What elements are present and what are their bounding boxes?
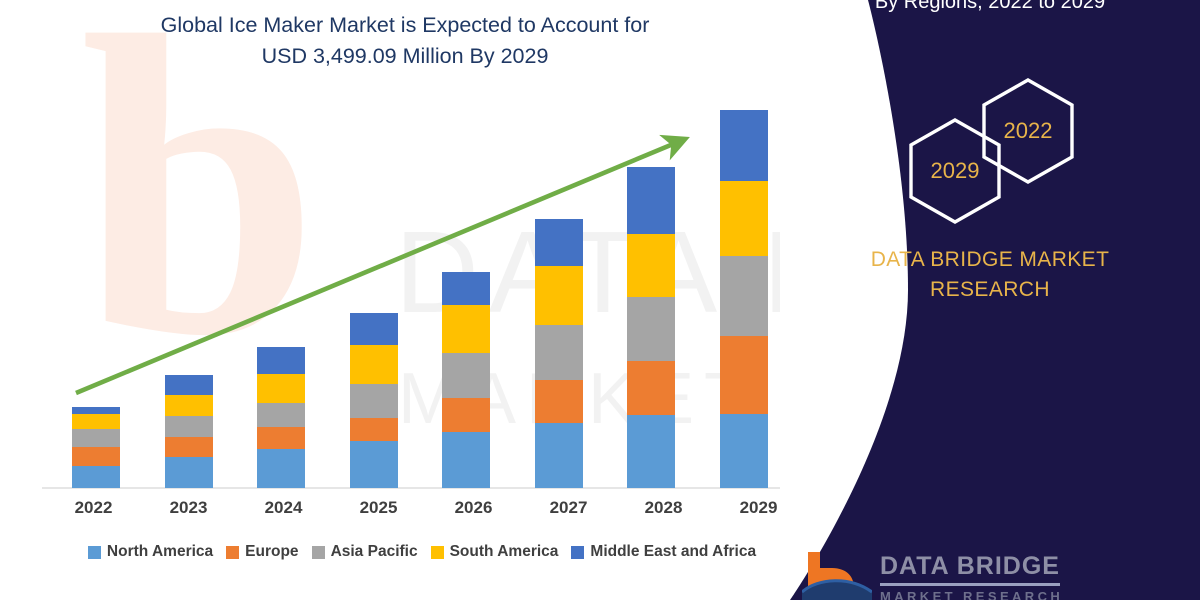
bar-segment-south-america-2027	[535, 266, 583, 325]
bar-segment-middle-east-and-africa-2024	[257, 347, 305, 374]
bar-segment-asia-pacific-2023	[165, 416, 213, 436]
bar-2026	[442, 272, 490, 488]
legend-swatch-icon	[226, 546, 239, 559]
plot-area	[50, 110, 790, 488]
bar-segment-south-america-2025	[350, 345, 398, 384]
legend-label: South America	[450, 543, 559, 561]
bar-segment-asia-pacific-2026	[442, 353, 490, 398]
bar-segment-europe-2027	[535, 380, 583, 423]
bar-segment-north-america-2022	[72, 466, 120, 488]
bar-segment-europe-2028	[627, 361, 675, 415]
logo-text: DATA BRIDGE MARKET RESEARCH	[880, 552, 1063, 600]
bar-segment-europe-2025	[350, 418, 398, 441]
bar-segment-north-america-2026	[442, 432, 490, 488]
x-axis-labels: 20222023202420252026202720282029	[42, 498, 802, 526]
legend-item-south-america[interactable]: South America	[431, 543, 559, 561]
bar-segment-north-america-2027	[535, 423, 583, 488]
bar-2022	[72, 407, 120, 488]
legend-label: Europe	[245, 543, 298, 561]
legend-label: Asia Pacific	[331, 543, 418, 561]
bar-segment-south-america-2022	[72, 414, 120, 429]
company-logo: DATA BRIDGE MARKET RESEARCH	[802, 548, 1200, 600]
x-axis-label-2026: 2026	[429, 498, 519, 518]
legend-item-middle-east-and-africa[interactable]: Middle East and Africa	[571, 543, 756, 561]
infographic-canvas: b DATA BRIDGE MARKET RESEARCH Global Ice…	[0, 0, 1200, 600]
bar-segment-asia-pacific-2024	[257, 403, 305, 428]
bar-2025	[350, 313, 398, 488]
bar-segment-asia-pacific-2028	[627, 297, 675, 361]
panel-heading: By Regions, 2022 to 2029	[780, 0, 1200, 16]
legend-swatch-icon	[312, 546, 325, 559]
brand-name: DATA BRIDGE MARKET RESEARCH	[780, 245, 1200, 306]
decorative-circle	[780, 378, 852, 528]
bar-segment-north-america-2024	[257, 449, 305, 488]
bar-segment-north-america-2023	[165, 457, 213, 488]
bar-segment-europe-2026	[442, 398, 490, 432]
bar-2029	[720, 110, 768, 488]
hexagon-start-year-label: 2022	[978, 76, 1078, 186]
bar-segment-asia-pacific-2027	[535, 325, 583, 380]
bar-2023	[165, 375, 213, 488]
x-axis-label-2025: 2025	[334, 498, 424, 518]
bar-segment-middle-east-and-africa-2026	[442, 272, 490, 305]
bar-segment-north-america-2029	[720, 414, 768, 488]
bar-segment-europe-2023	[165, 437, 213, 457]
bar-segment-europe-2024	[257, 427, 305, 449]
bar-segment-middle-east-and-africa-2028	[627, 167, 675, 234]
legend-item-europe[interactable]: Europe	[226, 543, 298, 561]
bar-segment-south-america-2026	[442, 305, 490, 353]
bar-segment-middle-east-and-africa-2025	[350, 313, 398, 345]
logo-name: DATA BRIDGE	[880, 552, 1060, 586]
bar-segment-asia-pacific-2022	[72, 429, 120, 446]
legend-swatch-icon	[431, 546, 444, 559]
bridge-logo-icon	[802, 548, 872, 600]
bar-segment-middle-east-and-africa-2029	[720, 110, 768, 181]
bar-segment-south-america-2028	[627, 234, 675, 297]
brand-name-line-1: DATA BRIDGE MARKET	[780, 245, 1200, 275]
legend-item-north-america[interactable]: North America	[88, 543, 213, 561]
legend-label: North America	[107, 543, 213, 561]
bar-segment-south-america-2024	[257, 374, 305, 403]
brand-name-line-2: RESEARCH	[780, 275, 1200, 305]
chart-legend: North AmericaEuropeAsia PacificSouth Ame…	[42, 540, 802, 564]
legend-swatch-icon	[88, 546, 101, 559]
x-axis-label-2022: 2022	[49, 498, 139, 518]
bar-segment-asia-pacific-2029	[720, 256, 768, 336]
bar-2024	[257, 347, 305, 488]
x-axis-label-2028: 2028	[619, 498, 709, 518]
x-axis-label-2024: 2024	[239, 498, 329, 518]
bar-2028	[627, 167, 675, 488]
legend-label: Middle East and Africa	[590, 543, 756, 561]
bar-segment-south-america-2023	[165, 395, 213, 417]
hexagon-start-year: 2022	[978, 76, 1078, 186]
brand-panel: By Regions, 2022 to 2029 2029 2022 DATA …	[780, 0, 1200, 600]
bar-segment-asia-pacific-2025	[350, 384, 398, 418]
hexagon-years-group: 2029 2022	[780, 88, 1200, 223]
bar-2027	[535, 219, 583, 489]
bar-segment-middle-east-and-africa-2023	[165, 375, 213, 394]
legend-item-asia-pacific[interactable]: Asia Pacific	[312, 543, 418, 561]
bar-segment-middle-east-and-africa-2027	[535, 219, 583, 266]
stacked-bar-chart: 20222023202420252026202720282029	[0, 0, 820, 600]
bar-segment-europe-2022	[72, 447, 120, 466]
bar-segment-middle-east-and-africa-2022	[72, 407, 120, 415]
bar-segment-europe-2029	[720, 336, 768, 414]
x-axis-label-2027: 2027	[524, 498, 614, 518]
bar-segment-south-america-2029	[720, 181, 768, 256]
bar-segment-north-america-2028	[627, 415, 675, 488]
bar-segment-north-america-2025	[350, 441, 398, 488]
legend-swatch-icon	[571, 546, 584, 559]
logo-tagline: MARKET RESEARCH	[880, 589, 1063, 600]
x-axis-label-2023: 2023	[144, 498, 234, 518]
